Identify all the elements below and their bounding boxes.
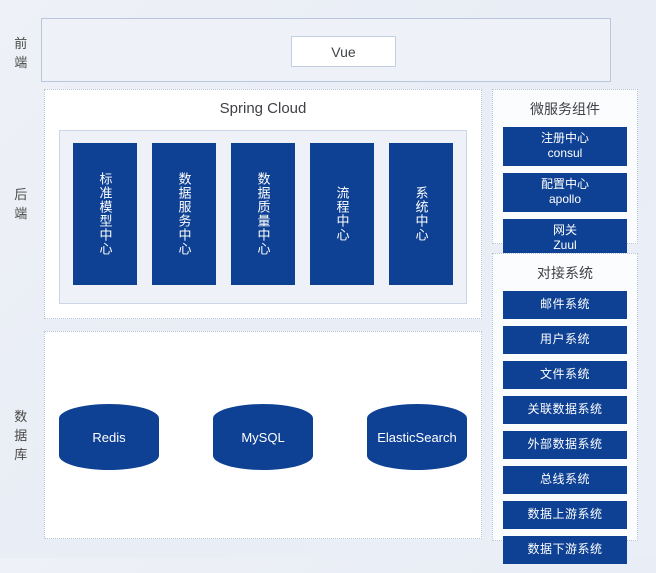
microservice-item-config[interactable]: 配置中心 apollo [503, 173, 627, 212]
vue-box[interactable]: Vue [291, 36, 396, 67]
row-label-database-char-2: 库 [6, 445, 36, 464]
microservice-components-panel: 微服务组件 注册中心 consul 配置中心 apollo 网关 Zuul [492, 89, 638, 244]
microservice-item-registry-sub: consul [503, 146, 627, 161]
integration-panel-title: 对接系统 [493, 263, 637, 283]
integration-panel-list: 邮件系统 用户系统 文件系统 关联数据系统 外部数据系统 总线系统 数据上游系统… [493, 291, 637, 573]
row-label-database: 数 据 库 [6, 407, 36, 464]
frontend-section: Vue [41, 18, 611, 82]
database-cylinder-mysql[interactable]: MySQL [213, 404, 313, 470]
row-label-database-char-0: 数 [6, 407, 36, 426]
integration-item-file-system[interactable]: 文件系统 [503, 361, 627, 389]
integration-item-downstream-data-system[interactable]: 数据下游系统 [503, 536, 627, 564]
microservice-item-registry[interactable]: 注册中心 consul [503, 127, 627, 166]
spring-cloud-section: Spring Cloud 标准模型中心 数据服务中心 数据质量中心 流程中心 系… [44, 89, 482, 319]
integration-item-user-system[interactable]: 用户系统 [503, 326, 627, 354]
integration-systems-panel: 对接系统 邮件系统 用户系统 文件系统 关联数据系统 外部数据系统 总线系统 数… [492, 253, 638, 541]
database-section: Redis MySQL ElasticSearch [44, 331, 482, 539]
row-label-backend: 后 端 [6, 185, 36, 223]
service-box-data-service-center[interactable]: 数据服务中心 [152, 143, 216, 285]
microservice-item-config-sub: apollo [503, 192, 627, 207]
microservice-item-registry-main: 注册中心 [541, 131, 589, 145]
spring-cloud-inner-panel: 标准模型中心 数据服务中心 数据质量中心 流程中心 系统中心 [59, 130, 467, 304]
integration-item-upstream-data-system[interactable]: 数据上游系统 [503, 501, 627, 529]
database-cylinder-row: Redis MySQL ElasticSearch [59, 404, 467, 474]
microservice-item-gateway-main: 网关 [553, 223, 577, 237]
row-label-frontend-char-0: 前 [6, 34, 36, 53]
row-label-frontend: 前 端 [6, 34, 36, 72]
service-box-process-center[interactable]: 流程中心 [310, 143, 374, 285]
service-box-row: 标准模型中心 数据服务中心 数据质量中心 流程中心 系统中心 [73, 143, 453, 285]
row-label-backend-char-1: 端 [6, 204, 36, 223]
integration-item-linked-data-system[interactable]: 关联数据系统 [503, 396, 627, 424]
integration-item-external-data-system[interactable]: 外部数据系统 [503, 431, 627, 459]
microservice-panel-list: 注册中心 consul 配置中心 apollo 网关 Zuul [493, 127, 637, 267]
row-label-frontend-char-1: 端 [6, 53, 36, 72]
service-box-standard-model-center[interactable]: 标准模型中心 [73, 143, 137, 285]
row-label-backend-char-0: 后 [6, 185, 36, 204]
database-cylinder-redis[interactable]: Redis [59, 404, 159, 470]
spring-cloud-title: Spring Cloud [45, 100, 481, 117]
service-box-system-center[interactable]: 系统中心 [389, 143, 453, 285]
integration-item-mail-system[interactable]: 邮件系统 [503, 291, 627, 319]
microservice-item-config-main: 配置中心 [541, 177, 589, 191]
integration-item-bus-system[interactable]: 总线系统 [503, 466, 627, 494]
microservice-panel-title: 微服务组件 [493, 99, 637, 119]
row-label-database-char-1: 据 [6, 426, 36, 445]
service-box-data-quality-center[interactable]: 数据质量中心 [231, 143, 295, 285]
database-cylinder-elasticsearch[interactable]: ElasticSearch [367, 404, 467, 470]
microservice-item-gateway-sub: Zuul [503, 238, 627, 253]
architecture-diagram: 前 端 后 端 数 据 库 Vue Spring Cloud 标准模型中心 数据… [0, 0, 656, 558]
